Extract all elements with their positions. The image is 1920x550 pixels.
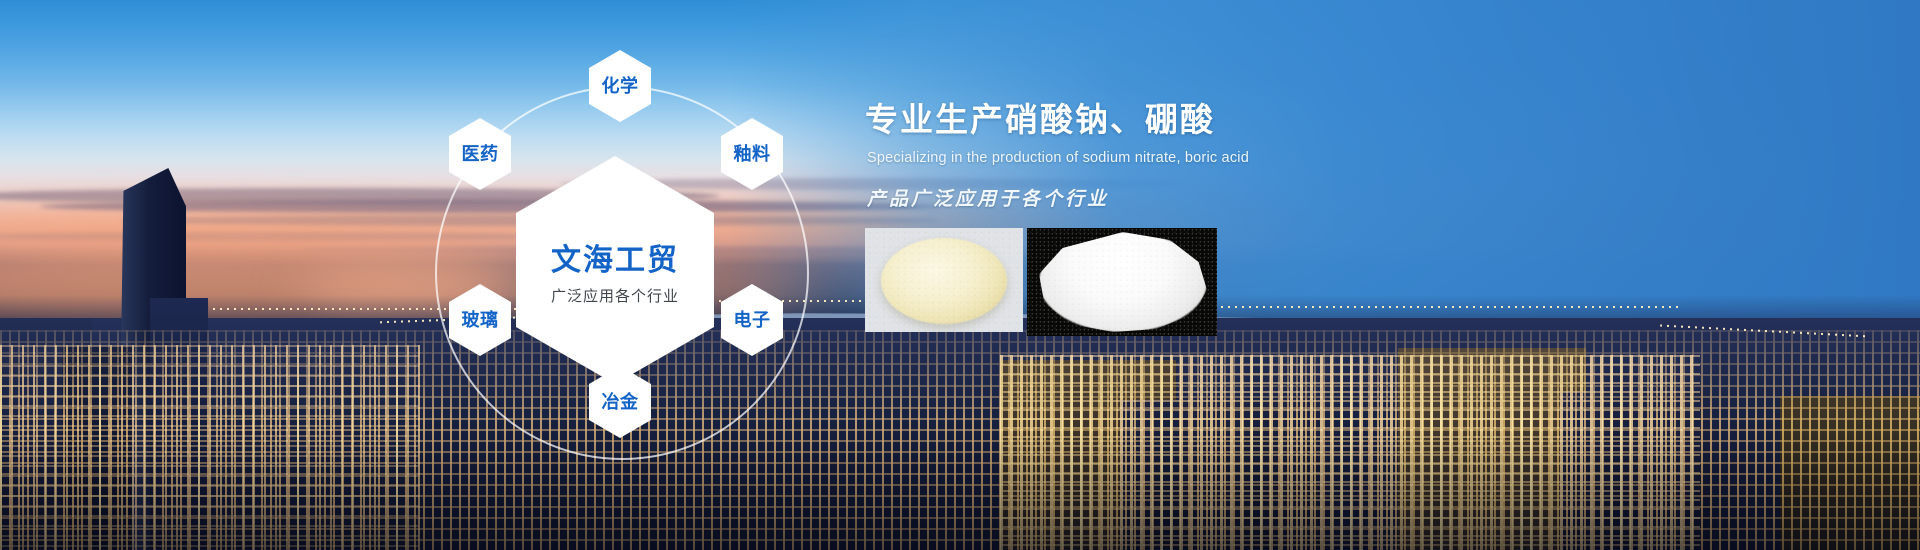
product-photo-sodium-nitrate[interactable] — [865, 228, 1023, 332]
product-photo-boric-acid[interactable] — [1027, 228, 1217, 336]
english-subtitle: Specializing in the production of sodium… — [867, 150, 1565, 166]
hex-label: 冶金 — [602, 393, 639, 411]
hex-label: 玻璃 — [462, 311, 499, 329]
hex-label: 电子 — [734, 311, 771, 329]
hex-label: 医药 — [462, 145, 499, 163]
promo-banner: 化学 釉料 电子 冶金 玻璃 医药 文海工贸 广泛应用各个行业 专业生产硝酸钠、… — [0, 0, 1920, 550]
powder-grain-texture — [865, 228, 1023, 332]
brand-subtitle: 广泛应用各个行业 — [551, 285, 679, 306]
chinese-subtitle: 产品广泛应用于各个行业 — [867, 184, 1565, 211]
brand-title: 文海工贸 — [551, 235, 679, 279]
hex-label: 化学 — [602, 77, 639, 95]
marketing-text-block: 专业生产硝酸钠、硼酸 Specializing in the productio… — [865, 100, 1565, 211]
hex-label: 釉料 — [734, 145, 771, 163]
headline: 专业生产硝酸钠、硼酸 — [865, 100, 1565, 140]
city-shadow-overlay — [0, 430, 1920, 550]
powder-grain-texture — [1027, 228, 1217, 336]
shoreline-lights — [1200, 306, 1680, 308]
